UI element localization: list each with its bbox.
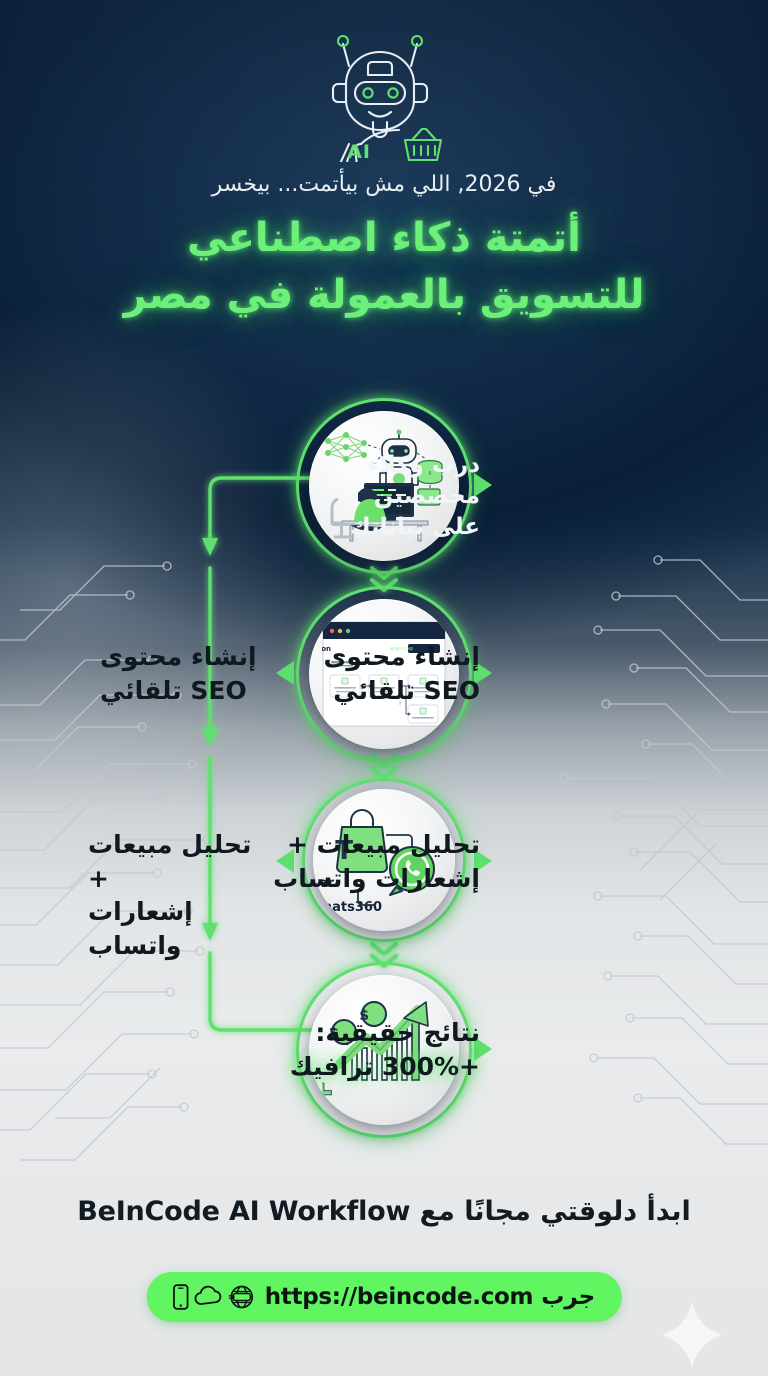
step-3-label-right-line1: تحليل مبيعات + — [270, 828, 480, 862]
page-title: أتمتة ذكاء اصطناعي للتسويق بالعمولة في م… — [0, 210, 768, 324]
step-1-label-right-line1: درب وكلاء مخصصين — [270, 450, 480, 512]
title-line-1: أتمتة ذكاء اصطناعي — [40, 210, 728, 267]
cloud-icon — [194, 1285, 224, 1309]
cta-button-label: جرب https://beincode.com — [265, 1284, 596, 1310]
step-2-label-right-line2: SEO تلقائي — [280, 674, 480, 708]
step-3-label-right-line2: إشعارات واتساب — [270, 862, 480, 896]
step-1-label-right: درب وكلاء مخصصين على بياناتك — [270, 450, 480, 542]
cta-headline: ابدأ دلوقتي مجانًا مع BeInCode AI Workfl… — [0, 1196, 768, 1227]
sparkle-icon — [660, 1300, 724, 1370]
step-4-label-right-line2: +300% ترافيك — [270, 1050, 480, 1084]
svg-text:AI: AI — [347, 141, 371, 162]
step-3-label-right: تحليل مبيعات + إشعارات واتساب — [270, 828, 480, 895]
step-3-label-left-line1: تحليل مبيعات + — [88, 828, 278, 895]
cta-button[interactable]: جرب https://beincode.com WEB — [147, 1272, 622, 1322]
ai-shopping-robot-icon: AI — [309, 22, 459, 162]
header-kicker: في 2026, اللي مش بيأتمت... بيخسر — [0, 172, 768, 197]
step-2-label-right-line1: إنشاء محتوى — [280, 640, 480, 674]
header-icon-area: AI — [0, 22, 768, 162]
globe-label: WEB — [229, 1295, 235, 1301]
step-2-label-left-line2: SEO تلقائي — [100, 674, 280, 708]
step-2-label-right: إنشاء محتوى SEO تلقائي — [280, 640, 480, 707]
mobile-phone-icon — [173, 1284, 189, 1310]
step-3-label-left-line2: إشعارات واتساب — [88, 895, 278, 962]
web-globe-icon: WEB — [229, 1284, 255, 1310]
step-1-label-right-line2: على بياناتك — [270, 512, 480, 543]
infographic-canvas: AI في 2026, اللي مش بيأتمت... بيخسر أتمت… — [0, 0, 768, 1376]
title-line-2: للتسويق بالعمولة في مصر — [40, 267, 728, 324]
step-3-label-left: تحليل مبيعات + إشعارات واتساب — [88, 828, 278, 962]
step-2-label-left: إنشاء محتوى SEO تلقائي — [100, 640, 280, 707]
step-4-label-right: نتائج حقيقية: +300% ترافيك — [270, 1016, 480, 1083]
step-2-label-left-line1: إنشاء محتوى — [100, 640, 280, 674]
flow-diagram: درب وكلاء مخصصين على بياناتك Automation … — [0, 378, 768, 1168]
step-4-label-right-line1: نتائج حقيقية: — [270, 1016, 480, 1050]
cta-button-icons: WEB — [173, 1284, 255, 1310]
